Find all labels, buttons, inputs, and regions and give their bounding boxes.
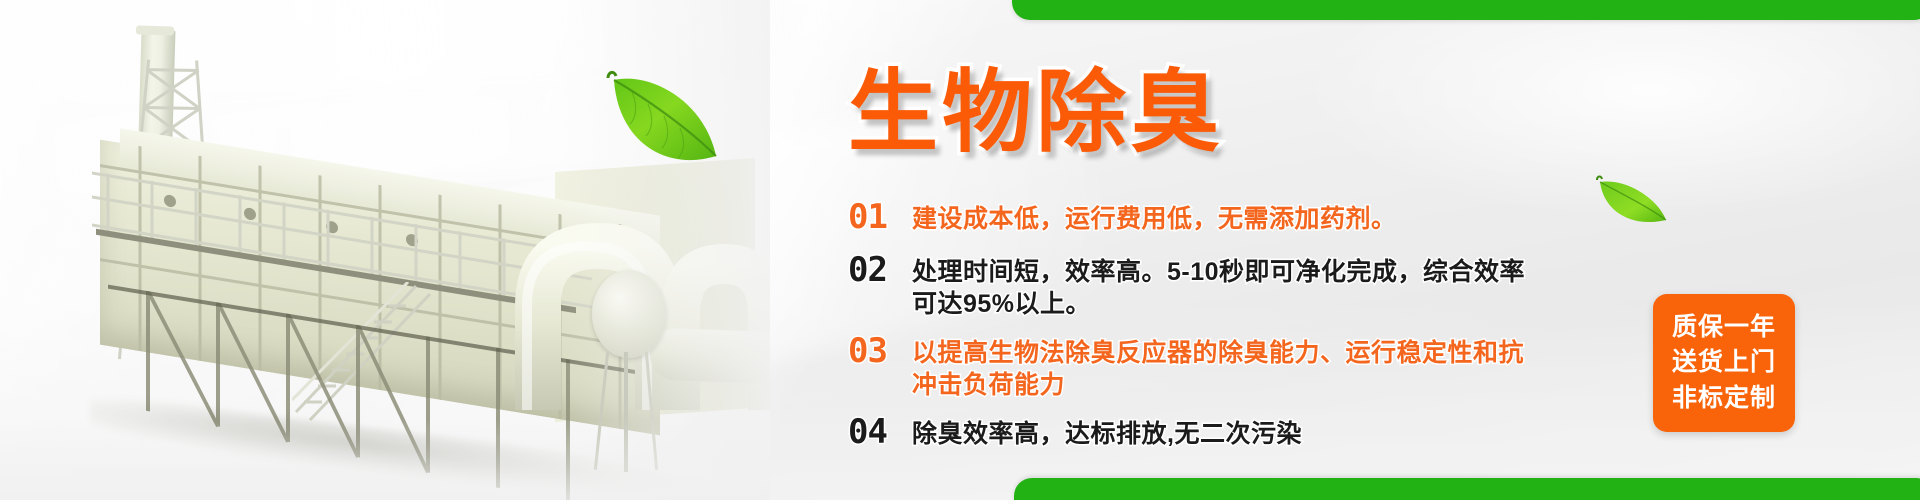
- leaf-icon: [592, 62, 722, 182]
- feature-number: 02: [848, 253, 912, 288]
- feature-text: 处理时间短，效率高。5-10秒即可净化完成，综合效率可达95%以上。: [912, 253, 1548, 320]
- list-item: 01 建设成本低，运行费用低，无需添加药剂。: [848, 200, 1548, 235]
- feature-text: 以提高生物法除臭反应器的除臭能力、运行稳定性和抗冲击负荷能力: [912, 334, 1548, 401]
- page-title: 生物除臭: [848, 68, 1224, 158]
- guarantee-badge[interactable]: 质保一年 送货上门 非标定制: [1653, 294, 1795, 432]
- photo-bottom-fade: [0, 420, 770, 500]
- green-bar-top: [1012, 0, 1920, 20]
- chimney-cap: [136, 25, 174, 35]
- feature-number: 03: [848, 334, 912, 369]
- feature-text: 除臭效率高，达标排放,无二次污染: [912, 415, 1302, 450]
- badge-line-warranty: 质保一年: [1672, 310, 1776, 346]
- feature-number: 01: [848, 200, 912, 235]
- badge-line-custom: 非标定制: [1672, 381, 1776, 417]
- list-item: 03 以提高生物法除臭反应器的除臭能力、运行稳定性和抗冲击负荷能力: [848, 334, 1548, 401]
- badge-line-delivery: 送货上门: [1672, 345, 1776, 381]
- list-item: 04 除臭效率高，达标排放,无二次污染: [848, 415, 1548, 450]
- leaf-icon: [1588, 170, 1672, 232]
- feature-list: 01 建设成本低，运行费用低，无需添加药剂。 02 处理时间短，效率高。5-10…: [848, 200, 1548, 460]
- list-item: 02 处理时间短，效率高。5-10秒即可净化完成，综合效率可达95%以上。: [848, 253, 1548, 320]
- green-bar-bottom: [1014, 478, 1920, 500]
- promo-banner: 生物除臭 01 建设成本低，运行费用低，无需添加药剂。 02 处理时间短，效率高…: [0, 0, 1920, 500]
- feature-number: 04: [848, 415, 912, 450]
- feature-text: 建设成本低，运行费用低，无需添加药剂。: [912, 200, 1397, 235]
